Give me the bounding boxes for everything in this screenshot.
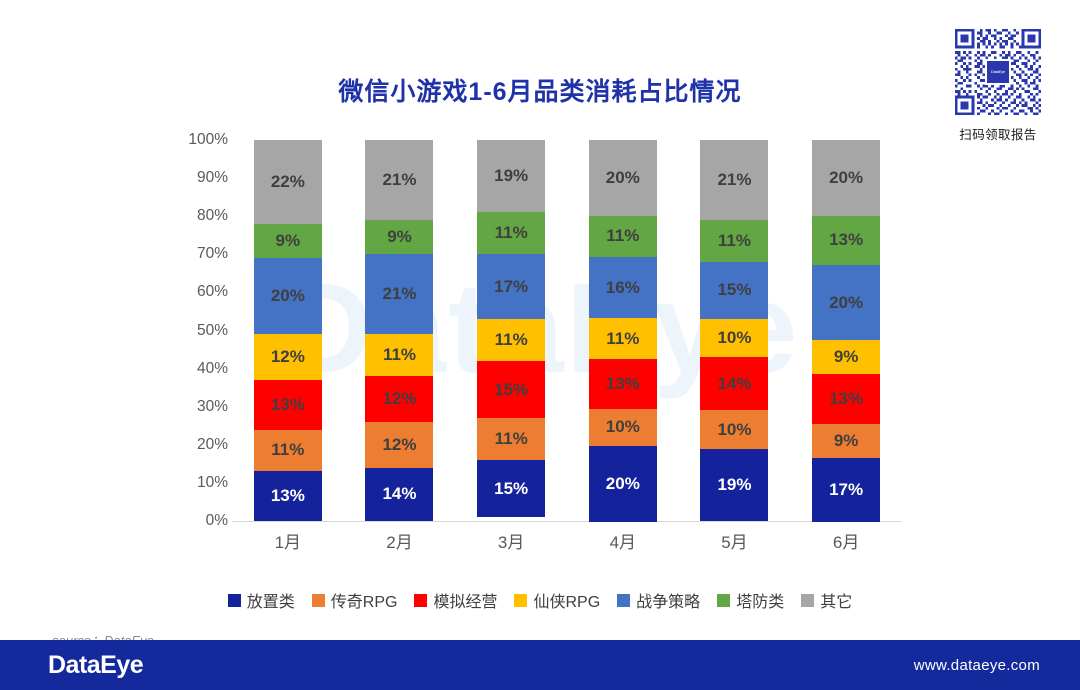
- stacked-bars-container: 22%9%20%12%13%11%13%21%9%21%11%12%12%14%…: [232, 140, 902, 522]
- bar-segment[interactable]: 21%: [365, 140, 433, 220]
- legend-label: 塔防类: [736, 588, 784, 612]
- y-axis: 0%10%20%30%40%50%60%70%80%90%100%: [170, 140, 228, 522]
- stacked-bar-column[interactable]: 20%11%16%11%13%10%20%: [589, 140, 657, 522]
- legend-label: 模拟经营: [433, 588, 497, 612]
- bar-segment[interactable]: 19%: [477, 140, 545, 212]
- legend-item[interactable]: 模拟经营: [414, 588, 497, 612]
- bar-segment[interactable]: 14%: [700, 357, 768, 410]
- bar-segment[interactable]: 20%: [812, 140, 880, 216]
- y-axis-tick: 60%: [197, 283, 228, 301]
- y-axis-tick: 0%: [206, 512, 228, 530]
- bar-segment[interactable]: 14%: [365, 468, 433, 521]
- stacked-bar-column[interactable]: 22%9%20%12%13%11%13%: [254, 140, 322, 522]
- stacked-bar-column[interactable]: 21%9%21%11%12%12%14%: [365, 140, 433, 522]
- bar-segment[interactable]: 13%: [254, 471, 322, 521]
- bar-segment[interactable]: 12%: [365, 422, 433, 468]
- x-axis-tick: 6月: [812, 528, 880, 553]
- legend-label: 放置类: [247, 588, 295, 612]
- y-axis-tick: 70%: [197, 245, 228, 263]
- y-axis-tick: 50%: [197, 322, 228, 340]
- legend-item[interactable]: 放置类: [228, 588, 295, 612]
- x-axis-tick: 5月: [700, 528, 768, 553]
- x-axis-tick: 1月: [254, 528, 322, 553]
- legend-swatch-icon: [414, 594, 427, 607]
- legend-swatch-icon: [617, 594, 630, 607]
- x-axis-tick: 2月: [365, 528, 433, 553]
- bar-segment[interactable]: 13%: [812, 216, 880, 265]
- bar-segment[interactable]: 20%: [589, 140, 657, 216]
- bar-segment[interactable]: 12%: [365, 376, 433, 422]
- legend-swatch-icon: [801, 594, 814, 607]
- footer-bar: DataEye www.dataeye.com: [0, 640, 1080, 690]
- bar-segment[interactable]: 21%: [365, 254, 433, 334]
- legend-swatch-icon: [514, 594, 527, 607]
- chart-plot-area: DataEye 0%10%20%30%40%50%60%70%80%90%100…: [0, 140, 1080, 540]
- bar-segment[interactable]: 9%: [812, 424, 880, 458]
- bar-segment[interactable]: 11%: [477, 319, 545, 361]
- bar-segment[interactable]: 12%: [254, 334, 322, 380]
- stacked-bar-column[interactable]: 19%11%17%11%15%11%15%: [477, 140, 545, 522]
- bar-segment[interactable]: 10%: [700, 319, 768, 357]
- legend-label: 仙侠RPG: [533, 588, 600, 612]
- y-axis-tick: 30%: [197, 398, 228, 416]
- bar-segment[interactable]: 20%: [589, 446, 657, 522]
- stacked-bar-column[interactable]: 20%13%20%9%13%9%17%: [812, 140, 880, 522]
- bar-segment[interactable]: 20%: [812, 265, 880, 341]
- legend-swatch-icon: [228, 594, 241, 607]
- bar-segment[interactable]: 15%: [700, 262, 768, 319]
- legend-item[interactable]: 传奇RPG: [312, 588, 398, 612]
- y-axis-tick: 40%: [197, 360, 228, 378]
- bar-segment[interactable]: 9%: [365, 220, 433, 254]
- bar-segment[interactable]: 11%: [589, 216, 657, 258]
- legend-swatch-icon: [312, 594, 325, 607]
- legend-swatch-icon: [717, 594, 730, 607]
- legend-item[interactable]: 其它: [801, 588, 852, 612]
- bar-segment[interactable]: 13%: [254, 380, 322, 430]
- bar-segment[interactable]: 11%: [365, 334, 433, 376]
- bar-segment[interactable]: 16%: [589, 257, 657, 318]
- footer-url[interactable]: www.dataeye.com: [914, 657, 1040, 674]
- y-axis-tick: 100%: [188, 131, 228, 149]
- y-axis-tick: 10%: [197, 474, 228, 492]
- legend-label: 传奇RPG: [331, 588, 398, 612]
- bar-segment[interactable]: 21%: [700, 140, 768, 220]
- bar-segment[interactable]: 9%: [812, 340, 880, 374]
- bar-segment[interactable]: 13%: [589, 359, 657, 408]
- legend-item[interactable]: 塔防类: [717, 588, 784, 612]
- bar-segment[interactable]: 17%: [477, 254, 545, 319]
- legend-item[interactable]: 战争策略: [617, 588, 700, 612]
- legend-item[interactable]: 仙侠RPG: [514, 588, 600, 612]
- bar-segment[interactable]: 10%: [700, 410, 768, 448]
- x-axis: 1月2月3月4月5月6月: [232, 528, 902, 553]
- bar-segment[interactable]: 15%: [477, 460, 545, 517]
- page-title: 微信小游戏1-6月品类消耗占比情况: [0, 72, 1080, 108]
- x-axis-tick: 4月: [589, 528, 657, 553]
- bar-segment[interactable]: 15%: [477, 361, 545, 418]
- stacked-bar-column[interactable]: 21%11%15%10%14%10%19%: [700, 140, 768, 522]
- legend-label: 战争策略: [636, 588, 700, 612]
- bar-segment[interactable]: 10%: [589, 409, 657, 447]
- bar-segment[interactable]: 11%: [589, 318, 657, 360]
- y-axis-tick: 80%: [197, 207, 228, 225]
- x-axis-tick: 3月: [477, 528, 545, 553]
- bar-segment[interactable]: 11%: [254, 430, 322, 472]
- y-axis-tick: 20%: [197, 436, 228, 454]
- footer-logo: DataEye: [48, 651, 143, 680]
- bar-segment[interactable]: 19%: [700, 449, 768, 521]
- bar-segment[interactable]: 11%: [700, 220, 768, 262]
- bar-segment[interactable]: 20%: [254, 258, 322, 334]
- bar-segment[interactable]: 17%: [812, 458, 880, 522]
- bar-segment[interactable]: 22%: [254, 140, 322, 224]
- y-axis-tick: 90%: [197, 169, 228, 187]
- bar-segment[interactable]: 11%: [477, 418, 545, 460]
- legend-label: 其它: [820, 588, 852, 612]
- bar-segment[interactable]: 11%: [477, 212, 545, 254]
- bar-segment[interactable]: 13%: [812, 374, 880, 423]
- chart-legend: 放置类传奇RPG模拟经营仙侠RPG战争策略塔防类其它: [0, 588, 1080, 612]
- bar-segment[interactable]: 9%: [254, 224, 322, 258]
